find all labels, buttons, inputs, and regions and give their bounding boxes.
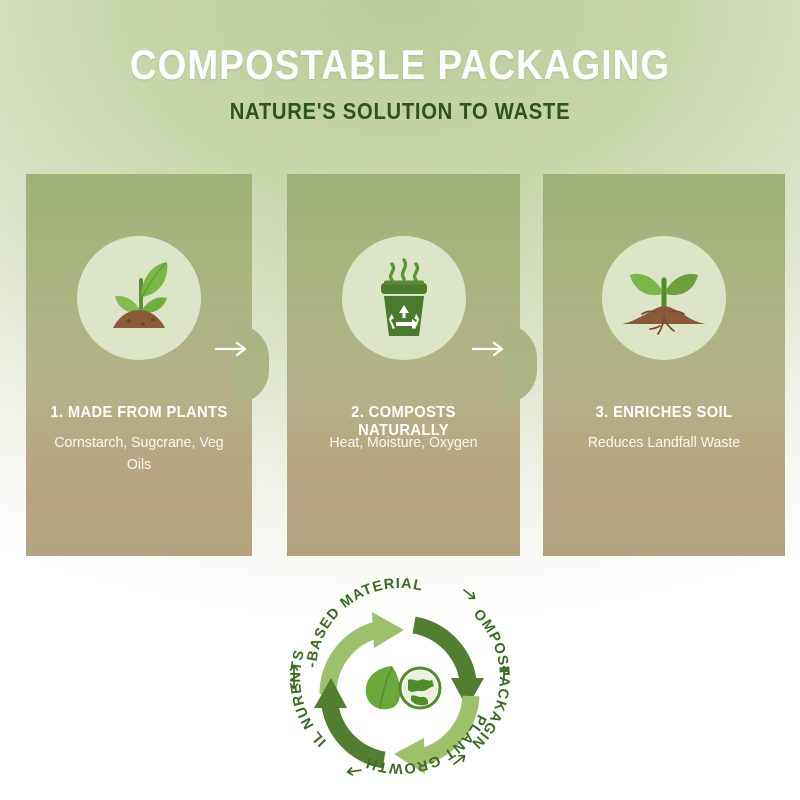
step-card-1[interactable]: 1. MADE FROM PLANTS Cornstarch, Sugcrane… [26,174,252,556]
cycle-svg: PLANT-BASED MATERIAL COMPOST PACKAGING P… [268,568,532,788]
step-3-icon-wrap [543,236,785,360]
step-1-body: Cornstarch, Sugcrane, Veg Oils [48,432,230,476]
step-2-icon-circle [342,236,466,360]
step-1-heading: 1. MADE FROM PLANTS [42,404,235,422]
connector-top-right [462,587,477,601]
step-2-body: Heat, Moisture, Oxygen [309,432,498,454]
arrow-step-1-to-2 [213,340,253,358]
arrow-step-2-to-3 [470,340,510,358]
step-1-icon-circle [77,236,201,360]
right-arrow-icon [471,341,509,357]
connector-bottom-left [347,767,361,776]
compost-bin-recycle-icon [356,250,452,346]
steps-row: 1. MADE FROM PLANTS Cornstarch, Sugcrane… [0,174,800,556]
page-title: COMPOSTABLE PACKAGING [48,44,752,86]
lifecycle-cycle-diagram: PLANT-BASED MATERIAL COMPOST PACKAGING P… [268,568,532,788]
page-subtitle: NATURE'S SOLUTION TO WASTE [48,100,752,123]
infographic-canvas: COMPOSTABLE PACKAGING NATURE'S SOLUTION … [0,0,800,800]
step-card-2[interactable]: 2. COMPOSTS NATURALLY Heat, Moisture, Ox… [287,174,520,556]
header: COMPOSTABLE PACKAGING NATURE'S SOLUTION … [0,44,800,123]
cycle-label-plant-growth: PLANT GROWTH [364,712,490,777]
right-arrow-icon [214,341,252,357]
step-3-body: Reduces Landfall Waste [565,432,762,454]
leaf-and-globe-icon [366,666,440,709]
plant-sprout-in-soil-icon [91,250,187,346]
step-3-heading: 3. ENRICHES SOIL [560,404,768,422]
step-3-icon-circle [602,236,726,360]
seedling-with-roots-icon [612,246,716,350]
step-card-3[interactable]: 3. ENRICHES SOIL Reduces Landfall Waste [543,174,785,556]
